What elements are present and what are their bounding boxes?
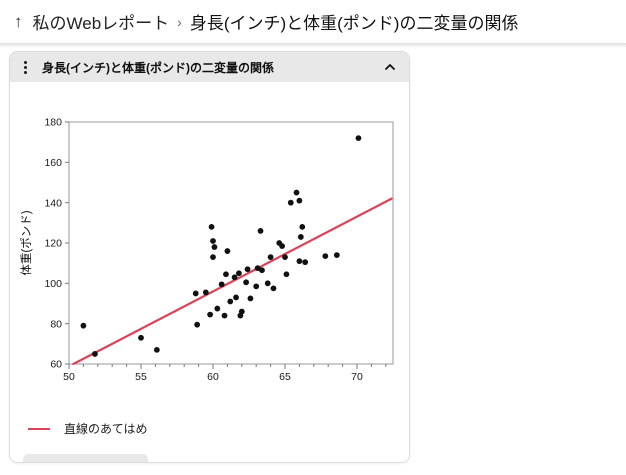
breadcrumb-separator: › <box>177 14 182 30</box>
y-axis-ticks: 6080100120140160180 <box>44 117 69 371</box>
svg-text:60: 60 <box>207 371 219 382</box>
svg-text:160: 160 <box>44 157 62 169</box>
kebab-menu-icon[interactable] <box>18 61 32 74</box>
card-title: 身長(インチ)と体重(ポンド)の二変量の関係 <box>42 59 381 76</box>
svg-text:70: 70 <box>351 371 363 382</box>
header-shadow <box>0 44 626 48</box>
legend-swatch-fit-line <box>28 428 50 430</box>
svg-text:180: 180 <box>44 117 62 129</box>
card-body: 6080100120140160180 5055606570 体重(ポンド) 身… <box>10 82 409 463</box>
svg-text:80: 80 <box>50 318 62 330</box>
plot-frame <box>69 122 393 364</box>
chart-legend: 直線のあてはめ <box>28 420 148 437</box>
chevron-up-icon[interactable] <box>381 58 399 76</box>
x-axis-ticks: 5055606570 <box>63 364 386 382</box>
breadcrumb-parent-link[interactable]: 私のWebレポート <box>33 9 170 34</box>
card-header: 身長(インチ)と体重(ポンド)の二変量の関係 <box>10 52 409 82</box>
svg-text:120: 120 <box>44 238 62 250</box>
breadcrumb: ↑ 私のWebレポート › 身長(インチ)と体重(ポンド)の二変量の関係 <box>0 0 626 44</box>
svg-text:100: 100 <box>44 278 62 290</box>
svg-text:50: 50 <box>63 371 75 382</box>
legend-label-fit-line: 直線のあてはめ <box>64 420 148 437</box>
svg-text:55: 55 <box>135 371 147 382</box>
svg-text:60: 60 <box>50 359 62 371</box>
svg-text:65: 65 <box>279 371 291 382</box>
y-axis-label: 体重(ポンド) <box>19 210 33 275</box>
breadcrumb-current: 身長(インチ)と体重(ポンド)の二変量の関係 <box>190 9 519 34</box>
arrow-up-icon[interactable]: ↑ <box>14 13 23 30</box>
chevron-down-icon <box>125 462 138 464</box>
report-card: 身長(インチ)と体重(ポンド)の二変量の関係 60801001201401601… <box>9 51 410 463</box>
fit-type-dropdown-label: 直線のあてはめ <box>33 460 117 464</box>
svg-text:140: 140 <box>44 197 62 209</box>
fit-type-dropdown[interactable]: 直線のあてはめ <box>23 454 148 463</box>
scatter-plot: 6080100120140160180 5055606570 体重(ポンド) 身… <box>10 82 410 382</box>
